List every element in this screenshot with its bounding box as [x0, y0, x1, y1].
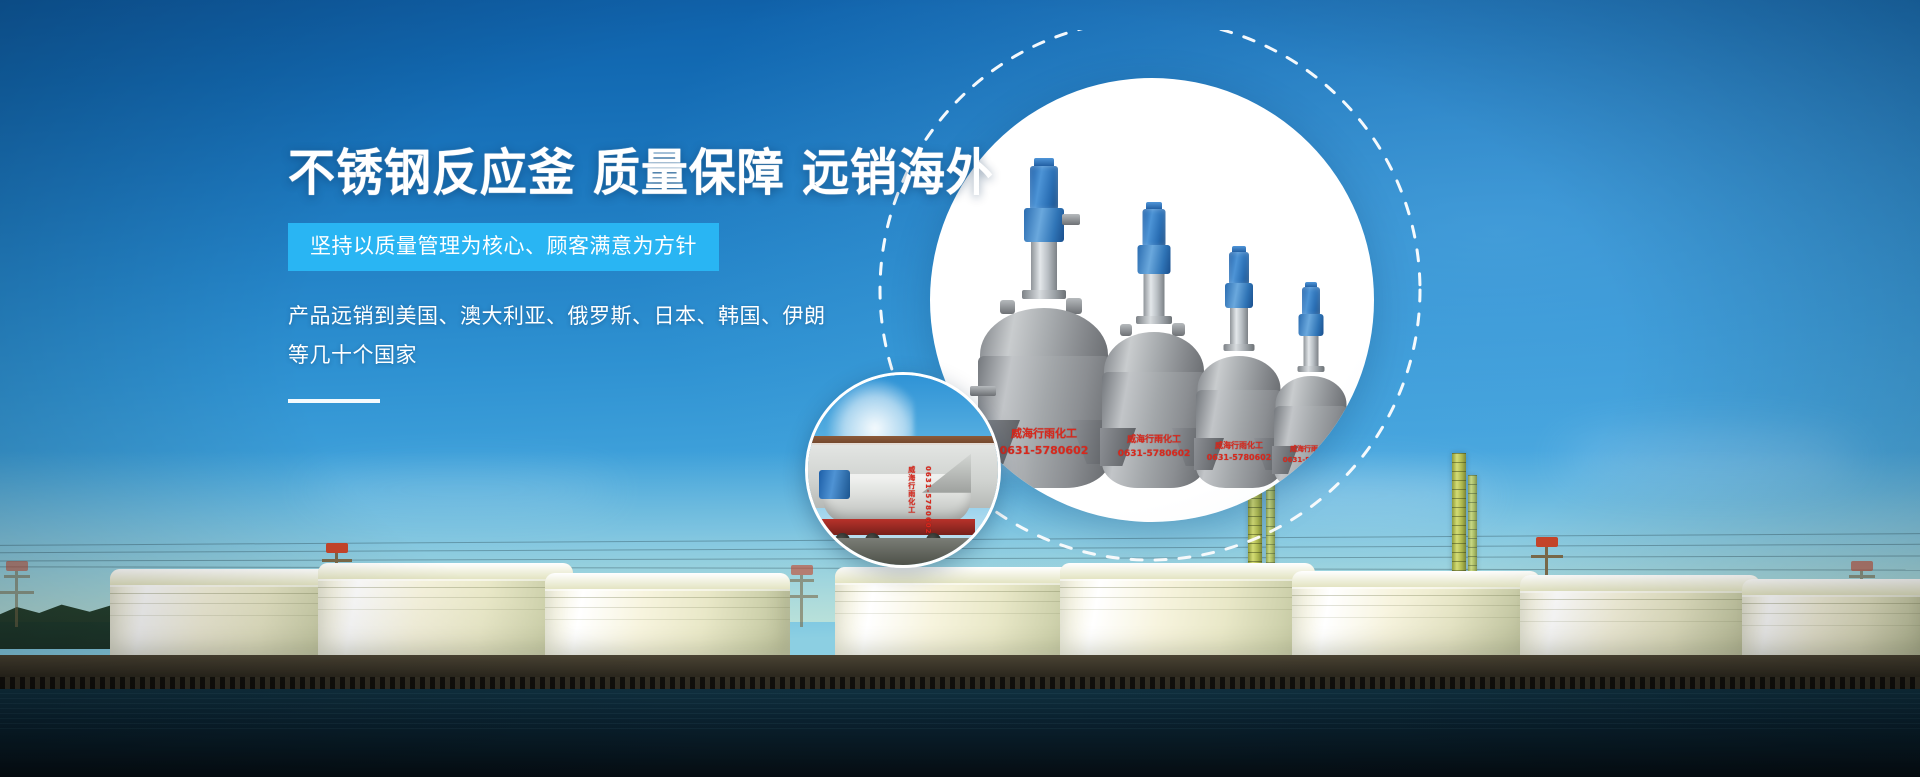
banner-copy: 不锈钢反应釜 质量保障 远销海外 坚持以质量管理为核心、顾客满意为方针 产品远销…	[288, 148, 1048, 403]
slogan-badge: 坚持以质量管理为核心、顾客满意为方针	[288, 223, 719, 271]
storage-tank	[545, 573, 790, 659]
reactor-vessel: 威海行雨化工 0631-5780602	[1196, 216, 1282, 488]
cloud	[1560, 430, 1860, 486]
storage-tank	[110, 569, 345, 659]
description-text: 产品远销到美国、澳大利亚、俄罗斯、日本、韩国、伊朗 等几十个国家	[288, 297, 1048, 375]
storage-tank	[318, 563, 573, 659]
reactor-vessel: 威海行雨化工 0631-5780602	[1102, 188, 1206, 488]
storage-tank	[1742, 579, 1920, 659]
page-title: 不锈钢反应釜 质量保障 远销海外	[288, 148, 1002, 198]
truck-phone-text: 0631-5780602	[924, 466, 932, 534]
transmission-tower	[15, 565, 18, 627]
storage-tank	[835, 567, 1085, 659]
reactor-vessel: 威海行雨化工 0631-5780602	[1274, 238, 1348, 488]
truck-chassis	[812, 519, 975, 534]
vessel-brand-text: 威海行雨化工 0631-5780602	[1000, 426, 1089, 459]
ground	[808, 538, 998, 565]
divider-rule	[288, 399, 380, 403]
vessel-brand-text: 威海行雨化工 0631-5780602	[1118, 434, 1191, 461]
truck-motor	[819, 470, 849, 499]
seawall	[0, 655, 1920, 691]
description-line: 等几十个国家	[288, 336, 1048, 375]
storage-tank	[1292, 571, 1540, 659]
hero-banner: 威海行雨化工 0631-5780602 威海行雨化工 0631-5780602	[0, 0, 1920, 777]
truck-brand-text: 威海行雨化工	[907, 466, 917, 514]
description-line: 产品远销到美国、澳大利亚、俄罗斯、日本、韩国、伊朗	[288, 297, 1048, 336]
storage-tank	[1060, 563, 1315, 659]
storage-tank	[1520, 575, 1760, 659]
vessel-brand-text: 威海行雨化工 0631-5780602	[1283, 444, 1339, 465]
transmission-tower	[800, 569, 803, 627]
water	[0, 689, 1920, 777]
vessel-brand-text: 威海行雨化工 0631-5780602	[1207, 440, 1272, 464]
